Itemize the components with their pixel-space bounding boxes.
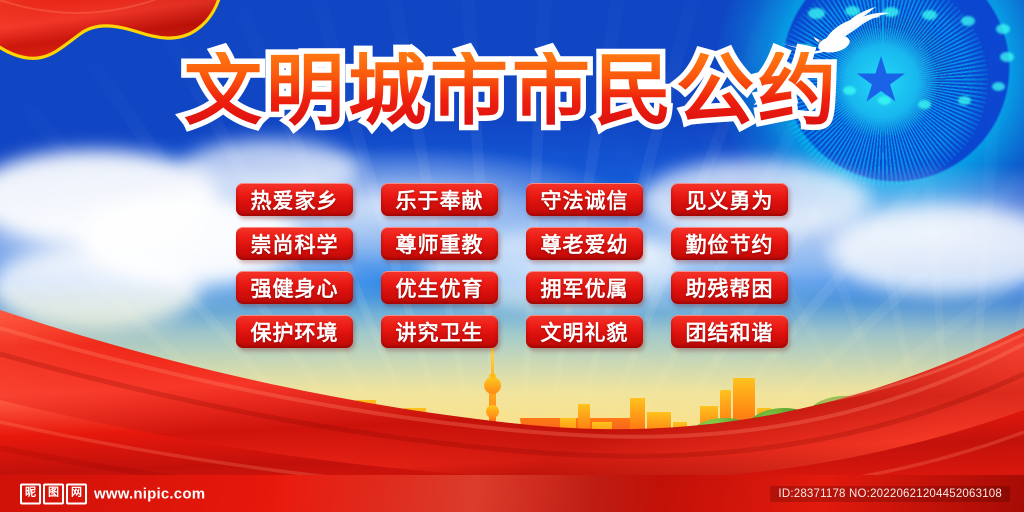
bokeh-dot: [996, 24, 1010, 34]
slogan-tag[interactable]: 强健身心: [236, 271, 353, 304]
bokeh-dot: [922, 10, 937, 20]
slogan-tag[interactable]: 拥军优属: [526, 271, 643, 304]
slogan-tag[interactable]: 乐于奉献: [381, 183, 498, 216]
watermark: 昵 图 网 www.nipic.com: [20, 483, 205, 504]
slogan-grid: 热爱家乡 乐于奉献 守法诚信 见义勇为 崇尚科学 尊师重教 尊老爱幼 勤俭节约 …: [236, 183, 788, 348]
logo-char: 网: [66, 483, 87, 504]
image-id-label: ID:28371178 NO:20220621204452063108: [770, 486, 1010, 502]
slogan-tag[interactable]: 尊师重教: [381, 227, 498, 260]
logo-char: 图: [43, 483, 64, 504]
slogan-tag[interactable]: 尊老爱幼: [526, 227, 643, 260]
poster-canvas: 文明城市市民公约 文明城市市民公约: [0, 0, 1024, 512]
slogan-tag[interactable]: 热爱家乡: [236, 183, 353, 216]
nipic-logo-icon: 昵 图 网: [20, 483, 87, 504]
slogan-tag[interactable]: 保护环境: [236, 315, 353, 348]
slogan-tag[interactable]: 团结和谐: [671, 315, 788, 348]
slogan-tag[interactable]: 勤俭节约: [671, 227, 788, 260]
slogan-tag[interactable]: 讲究卫生: [381, 315, 498, 348]
bokeh-dot: [961, 16, 975, 26]
slogan-tag[interactable]: 助残帮困: [671, 271, 788, 304]
slogan-tag[interactable]: 见义勇为: [671, 183, 788, 216]
watermark-url: www.nipic.com: [94, 485, 205, 502]
slogan-tag[interactable]: 守法诚信: [526, 183, 643, 216]
footer-bar: 昵 图 网 www.nipic.com ID:28371178 NO:20220…: [0, 475, 1024, 512]
logo-char: 昵: [20, 483, 41, 504]
slogan-tag[interactable]: 崇尚科学: [236, 227, 353, 260]
page-title: 文明城市市民公约: [0, 52, 1024, 130]
slogan-tag[interactable]: 文明礼貌: [526, 315, 643, 348]
slogan-tag[interactable]: 优生优育: [381, 271, 498, 304]
